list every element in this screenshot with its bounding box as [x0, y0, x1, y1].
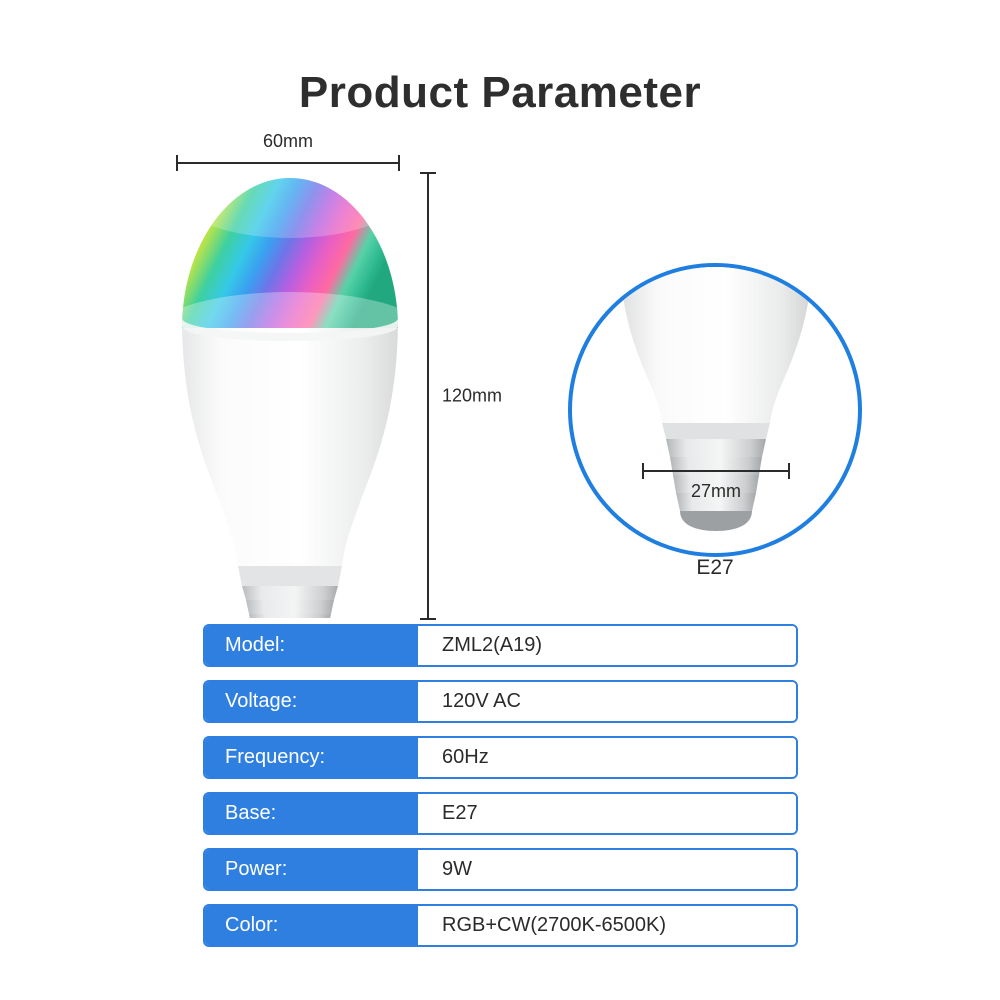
dimension-line-vertical — [427, 174, 429, 618]
height-dimension-label: 120mm — [442, 386, 502, 407]
page-title: Product Parameter — [0, 68, 1000, 118]
spec-label: Model: — [205, 626, 418, 665]
dimension-cap-right — [398, 155, 400, 171]
table-row: Model: ZML2(A19) — [203, 624, 798, 667]
dimension-cap-bottom — [420, 618, 436, 620]
spec-value: ZML2(A19) — [418, 626, 796, 665]
base-width-dimension-label: 27mm — [642, 481, 790, 502]
width-dimension-label: 60mm — [176, 131, 400, 152]
width-dimension: 60mm — [176, 155, 400, 171]
spec-label: Color: — [205, 906, 418, 945]
spec-label: Frequency: — [205, 738, 418, 777]
base-callout: 27mm — [568, 263, 862, 557]
table-row: Base: E27 — [203, 792, 798, 835]
table-row: Power: 9W — [203, 848, 798, 891]
dimension-cap-right — [788, 463, 790, 479]
bulb-illustration — [170, 168, 410, 618]
spec-value: RGB+CW(2700K-6500K) — [418, 906, 796, 945]
screw-base-graphic — [242, 586, 338, 618]
spec-label: Power: — [205, 850, 418, 889]
spec-table: Model: ZML2(A19) Voltage: 120V AC Freque… — [203, 624, 798, 960]
spec-value: E27 — [418, 794, 796, 833]
spec-label: Voltage: — [205, 682, 418, 721]
base-zoom-graphic — [572, 267, 860, 555]
dimension-line — [644, 470, 788, 472]
bulb-graphic — [170, 168, 410, 618]
spec-value: 60Hz — [418, 738, 796, 777]
table-row: Frequency: 60Hz — [203, 736, 798, 779]
table-row: Voltage: 120V AC — [203, 680, 798, 723]
table-row: Color: RGB+CW(2700K-6500K) — [203, 904, 798, 947]
spec-label: Base: — [205, 794, 418, 833]
base-caption: E27 — [568, 556, 862, 580]
spec-value: 9W — [418, 850, 796, 889]
height-dimension: 120mm — [420, 172, 436, 620]
spec-value: 120V AC — [418, 682, 796, 721]
dimension-line — [178, 162, 398, 164]
base-width-dimension: 27mm — [642, 463, 790, 479]
product-parameter-page: Product Parameter — [0, 0, 1000, 1000]
